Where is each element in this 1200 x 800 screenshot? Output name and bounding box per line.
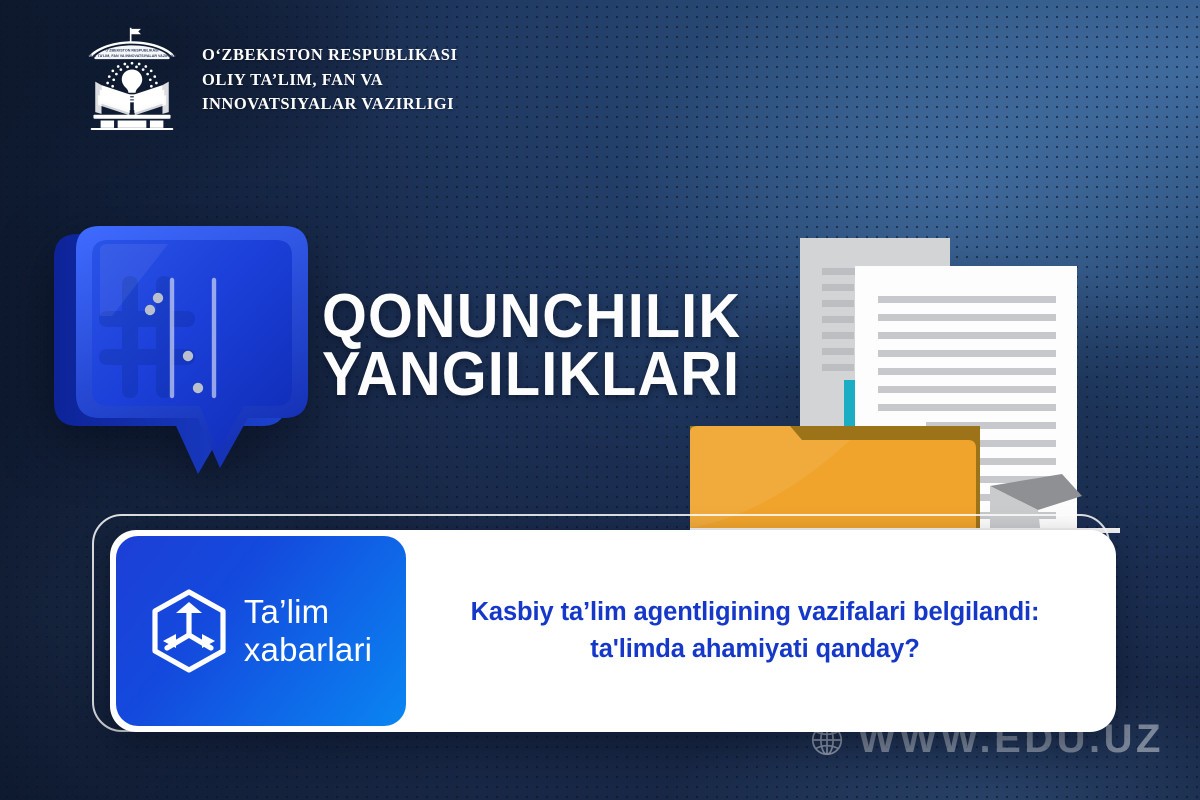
news-card[interactable]: Ta’lim xabarlari Kasbiy ta’lim agentligi…: [110, 530, 1116, 732]
brand-line-1: Ta’lim: [244, 593, 372, 631]
svg-text:OLIY TA’LIM, FAN VA INNOVATSIY: OLIY TA’LIM, FAN VA INNOVATSIYALAR VAZIR…: [88, 54, 176, 58]
news-headline-area: Kasbiy ta’lim agentligining vazifalari b…: [406, 530, 1116, 732]
hero-title-line-1: QONUNCHILIK: [322, 288, 741, 346]
ministry-line-1: O‘ZBEKISTON RESPUBLIKASI: [202, 45, 457, 66]
talim-xabarlari-label: Ta’lim xabarlari: [244, 593, 372, 670]
svg-text:O‘ZBEKISTON RESPUBLIKASI: O‘ZBEKISTON RESPUBLIKASI: [105, 49, 158, 53]
hero-title-line-2: YANGILIKLARI: [322, 346, 741, 404]
news-headline-line-2: ta'limda ahamiyati qanday?: [471, 631, 1040, 668]
ministry-line-3: INNOVATSIYALAR VAZIRLIGI: [202, 94, 457, 115]
uzbekistan-ministry-emblem-icon: O‘ZBEKISTON RESPUBLIKASI OLIY TA’LIM, FA…: [78, 26, 186, 130]
ministry-header: O‘ZBEKISTON RESPUBLIKASI OLIY TA’LIM, FA…: [78, 26, 457, 130]
news-headline: Kasbiy ta’lim agentligining vazifalari b…: [471, 594, 1040, 668]
hashtag-speech-bubble-icon: [48, 206, 348, 506]
ministry-line-2: OLIY TA’LIM, FAN VA: [202, 70, 457, 91]
hero-title: QONUNCHILIK YANGILIKLARI: [322, 288, 773, 403]
ministry-title-block: O‘ZBEKISTON RESPUBLIKASI OLIY TA’LIM, FA…: [202, 41, 457, 115]
poster-canvas: O‘ZBEKISTON RESPUBLIKASI OLIY TA’LIM, FA…: [0, 0, 1200, 800]
brand-line-2: xabarlari: [244, 631, 372, 669]
news-headline-line-1: Kasbiy ta’lim agentligining vazifalari b…: [471, 594, 1040, 631]
talim-xabarlari-cube-logo-icon: [150, 589, 228, 673]
talim-xabarlari-brand-panel[interactable]: Ta’lim xabarlari: [116, 536, 406, 726]
